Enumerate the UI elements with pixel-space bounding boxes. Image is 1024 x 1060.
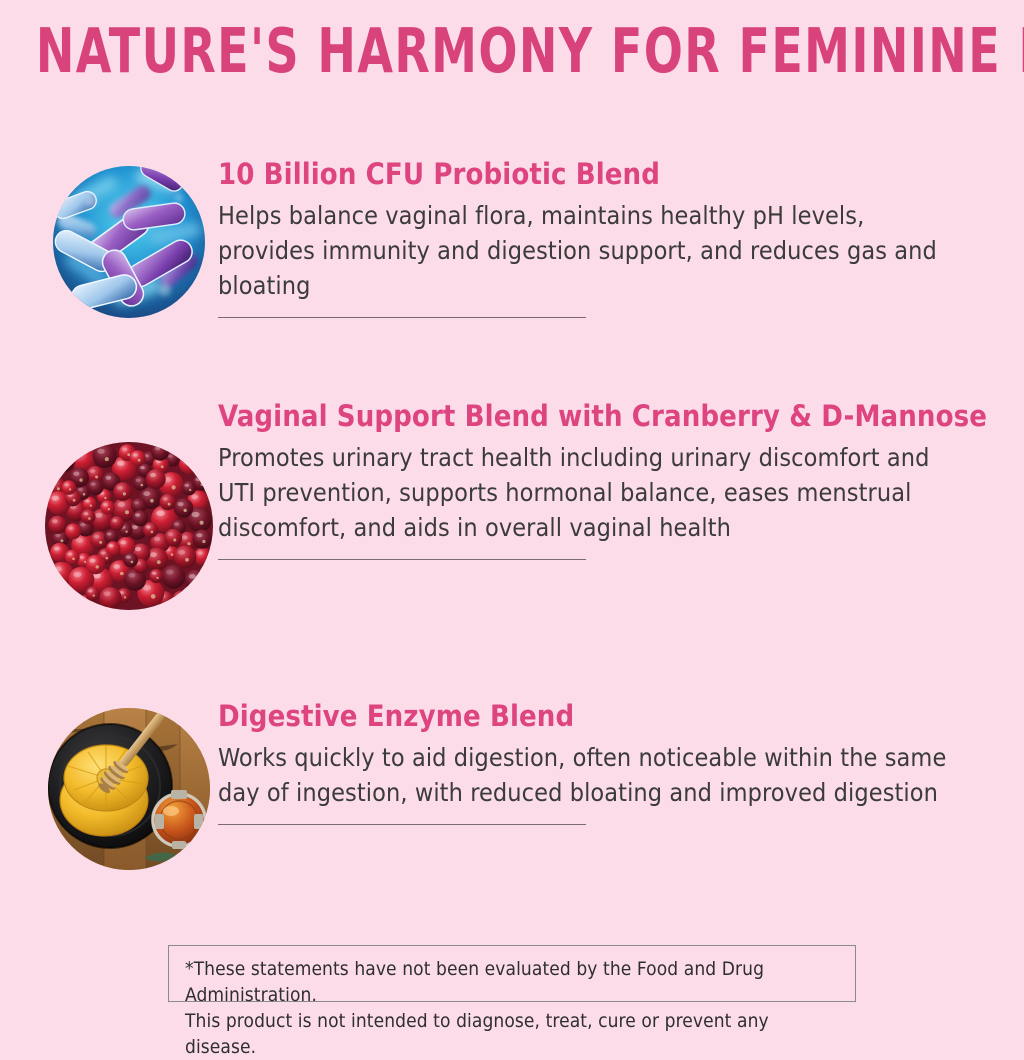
probiotic-bacteria-image [53, 166, 205, 318]
page-title: NATURE'S HARMONY FOR FEMININE HEALTH [36, 16, 988, 85]
section-description: Helps balance vaginal flora, maintains h… [218, 198, 948, 303]
section-heading: Digestive Enzyme Blend [218, 696, 948, 737]
section-body: Vaginal Support Blend with Cranberry & D… [218, 394, 987, 560]
feature-section-probiotic: 10 Billion CFU Probiotic Blend Helps bal… [40, 152, 948, 318]
section-description: Works quickly to aid digestion, often no… [218, 740, 948, 810]
feature-section-digestive-enzyme: Digestive Enzyme Blend Works quickly to … [40, 694, 948, 870]
section-description: Promotes urinary tract health including … [218, 440, 948, 545]
section-divider [218, 824, 586, 825]
thumbnail-container [40, 694, 218, 870]
thumbnail-container [40, 394, 218, 610]
section-heading: 10 Billion CFU Probiotic Blend [218, 154, 948, 195]
section-divider [218, 317, 586, 318]
section-divider [218, 559, 586, 560]
disclaimer-line-2: This product is not intended to diagnose… [185, 1008, 839, 1060]
section-heading: Vaginal Support Blend with Cranberry & D… [218, 396, 987, 437]
feature-section-cranberry: Vaginal Support Blend with Cranberry & D… [40, 394, 987, 610]
fda-disclaimer-box: *These statements have not been evaluate… [168, 945, 856, 1002]
thumbnail-container [40, 152, 218, 318]
pineapple-honey-image [48, 708, 210, 870]
section-body: Digestive Enzyme Blend Works quickly to … [218, 694, 948, 825]
disclaimer-line-1: *These statements have not been evaluate… [185, 956, 839, 1008]
section-body: 10 Billion CFU Probiotic Blend Helps bal… [218, 152, 948, 318]
cranberries-image [45, 442, 213, 610]
